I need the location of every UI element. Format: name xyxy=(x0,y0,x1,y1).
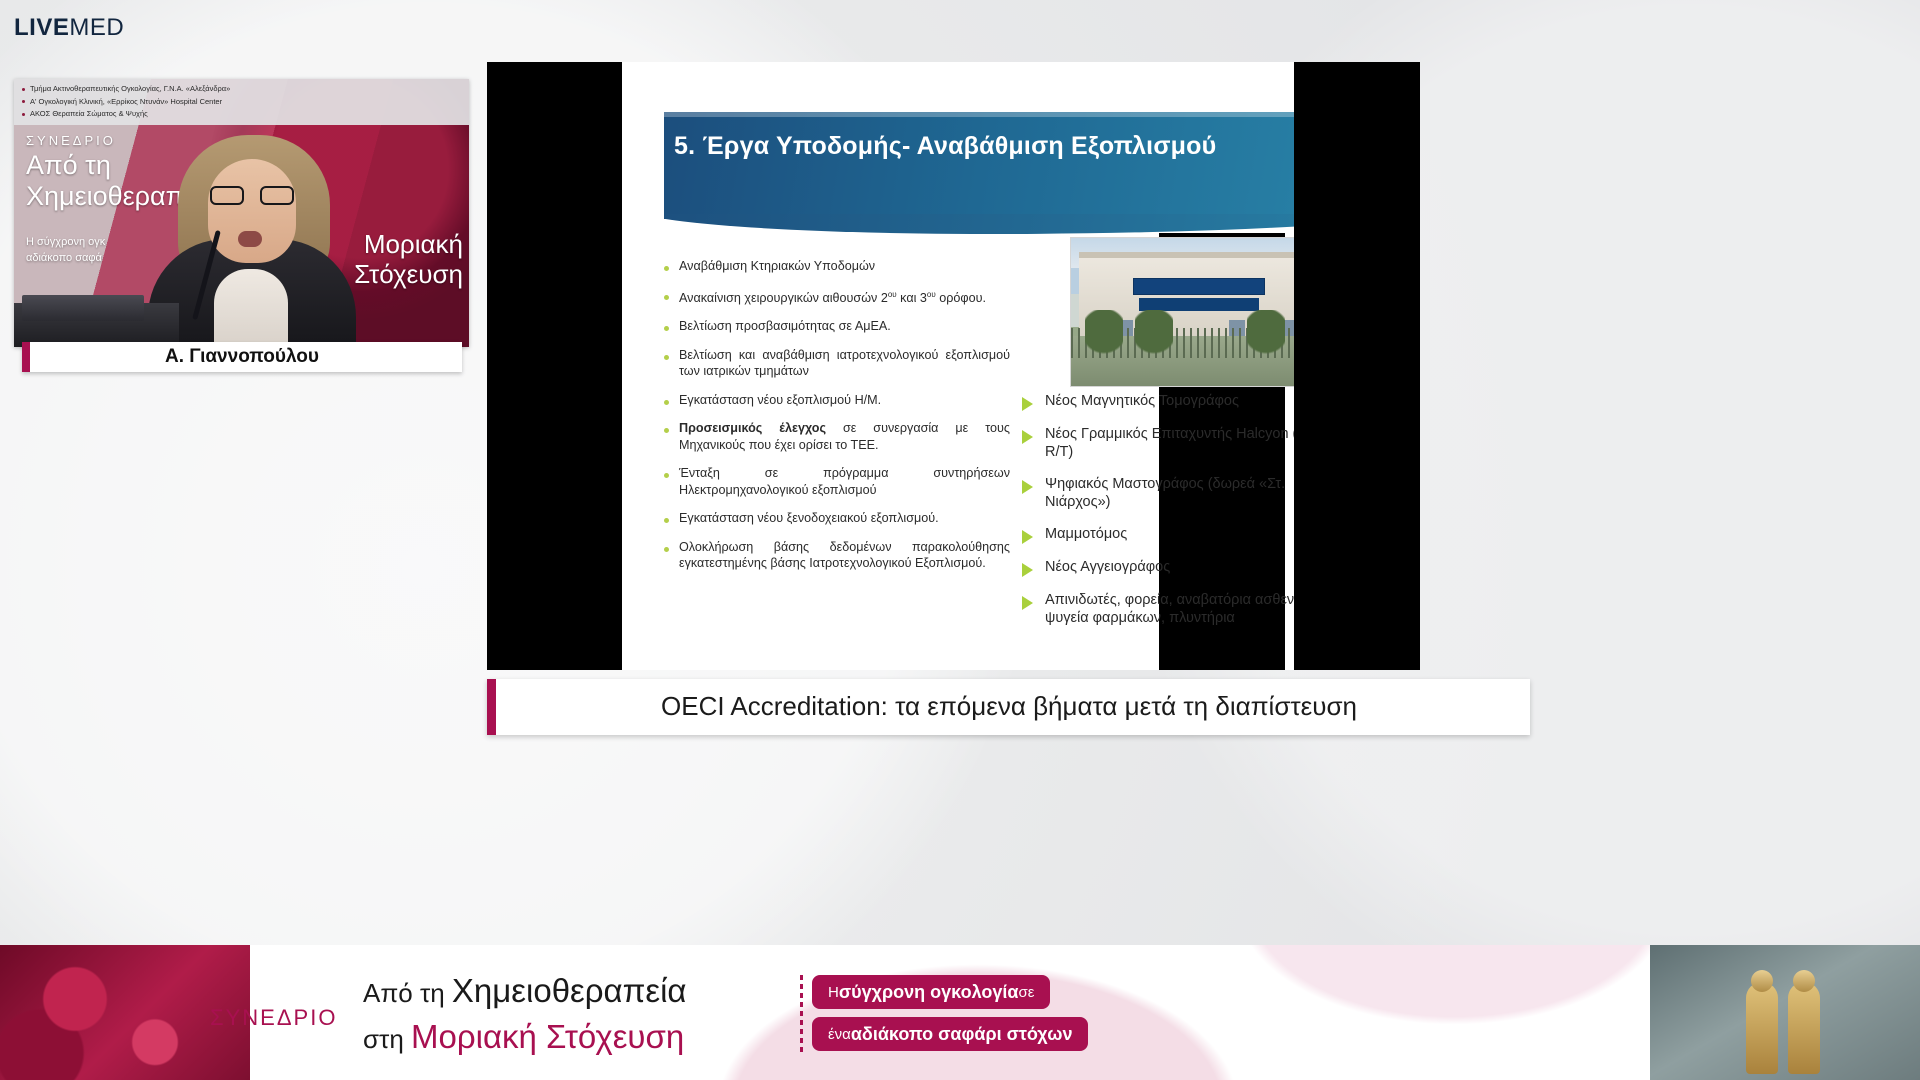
bullet-dot-icon xyxy=(664,355,669,360)
list-item: Βελτίωση και αναβάθμιση ιατροτεχνολογικο… xyxy=(660,347,1010,380)
footer-kicker: ΣΥΝΕΔΡΙΟ xyxy=(210,1005,337,1031)
bullet-text: Αναβάθμιση Κτηριακών Υποδομών xyxy=(679,258,1010,275)
triangle-bullet-icon xyxy=(1022,397,1033,411)
affiliation-overlay: Τμήμα Ακτινοθεραπευτικής Ογκολογίας, Γ.Ν… xyxy=(14,79,469,125)
bullet-text: Ανακαίνιση χειρουργικών αιθουσών 2ου και… xyxy=(679,287,1010,307)
speaker-shirt xyxy=(214,269,288,347)
logo-med: MED xyxy=(69,14,124,42)
footer-divider xyxy=(800,975,803,1053)
presentation-slide[interactable]: 5. Έργα Υποδομής- Αναβάθμιση Εξοπλισμού xyxy=(622,62,1294,670)
list-item: Εγκατάσταση νέου εξοπλισμού Η/Μ. xyxy=(660,392,1010,409)
slide-right-bullet-list: Νέος Μαγνητικός Τομογράφος Νέος Γραμμικό… xyxy=(1022,392,1294,641)
hospital-building-photo xyxy=(1070,237,1294,387)
slide-title: 5. Έργα Υποδομής- Αναβάθμιση Εξοπλισμού xyxy=(674,128,1234,164)
bullet-text: Ψηφιακός Μαστογράφος (δωρεά «Στ. Νιάρχος… xyxy=(1045,475,1294,511)
list-item: Ένταξη σε πρόγραμμα συντηρήσεων Ηλεκτρομ… xyxy=(660,465,1010,498)
photo-tree xyxy=(1135,310,1173,362)
bullet-dot-icon xyxy=(664,428,669,433)
triangle-bullet-icon xyxy=(1022,563,1033,577)
glasses-icon xyxy=(210,186,294,205)
photo-tree xyxy=(1085,310,1123,362)
list-item: Απινιδωτές, φορεία, αναβατόρια ασθενών, … xyxy=(1022,591,1294,627)
list-item: Νέος Γραμμικός Επιταχυντής Halcyon (για … xyxy=(1022,425,1294,461)
bullet-text: Νέος Γραμμικός Επιταχυντής Halcyon (για … xyxy=(1045,425,1294,461)
affiliation-line: Α' Ογκολογική Κλινική, «Ερρίκος Ντυνάν» … xyxy=(22,96,461,109)
list-item: Νέος Αγγειογράφος xyxy=(1022,558,1294,577)
speaker-face xyxy=(208,159,296,263)
bullet-text: Βελτίωση και αναβάθμιση ιατροτεχνολογικο… xyxy=(679,347,1010,380)
footer-title-line1: Από τη Χημειοθεραπεία xyxy=(363,969,783,1015)
bullet-text-emphasised: Προσεισμικός έλεγχος σε συνεργασία με το… xyxy=(679,420,1010,453)
logo-live: LIVE xyxy=(14,14,69,42)
triangle-bullet-icon xyxy=(1022,430,1033,444)
bullet-text: Εγκατάσταση νέου ξενοδοχειακού εξοπλισμο… xyxy=(679,510,1010,527)
bullet-text: Νέος Μαγνητικός Τομογράφος xyxy=(1045,392,1294,410)
band-sheen xyxy=(664,112,1294,117)
footer-title: Από τη Χημειοθεραπεία στη Μοριακή Στόχευ… xyxy=(363,969,783,1061)
footer-title-line2: στη Μοριακή Στόχευση xyxy=(363,1015,783,1061)
bullet-dot-icon xyxy=(22,113,25,116)
speaker-mouth xyxy=(238,231,262,247)
bullet-dot-icon xyxy=(664,326,669,331)
livemed-logo: LIVEMED xyxy=(14,14,124,42)
bullet-text: Ένταξη σε πρόγραμμα συντηρήσεων Ηλεκτρομ… xyxy=(679,465,1010,498)
slide-stage[interactable]: 5. Έργα Υποδομής- Αναβάθμιση Εξοπλισμού xyxy=(487,62,1420,670)
session-title-bar: OECI Accreditation: τα επόμενα βήματα με… xyxy=(487,679,1530,735)
footer-right-artwork xyxy=(1650,945,1920,1080)
list-item: Μαμμοτόμος xyxy=(1022,525,1294,544)
bullet-text: Εγκατάσταση νέου εξοπλισμού Η/Μ. xyxy=(679,392,1010,409)
slide-title-curve xyxy=(664,214,1294,236)
bullet-dot-icon xyxy=(664,547,669,552)
affiliation-line: Τμήμα Ακτινοθεραπευτικής Ογκολογίας, Γ.Ν… xyxy=(22,83,461,96)
bullet-dot-icon xyxy=(664,518,669,523)
bullet-dot-icon xyxy=(22,100,25,103)
statue-icon xyxy=(1746,982,1778,1074)
triangle-bullet-icon xyxy=(1022,530,1033,544)
list-item: Ψηφιακός Μαστογράφος (δωρεά «Στ. Νιάρχος… xyxy=(1022,475,1294,511)
triangle-bullet-icon xyxy=(1022,596,1033,610)
speaker-video-panel[interactable]: Τμήμα Ακτινοθεραπευτικής Ογκολογίας, Γ.Ν… xyxy=(14,79,469,347)
bullet-dot-icon xyxy=(664,295,669,300)
list-item: Εγκατάσταση νέου ξενοδοχειακού εξοπλισμο… xyxy=(660,510,1010,527)
bullet-text: Απινιδωτές, φορεία, αναβατόρια ασθενών, … xyxy=(1045,591,1294,627)
bullet-text: Ολοκλήρωση βάσης δεδομένων παρακολούθηση… xyxy=(679,539,1010,572)
affiliation-line: ΑΚΟΣ Θεραπεία Σώματος & Ψυχής xyxy=(22,108,461,121)
session-accent-bar xyxy=(487,679,496,735)
bullet-text: Μαμμοτόμος xyxy=(1045,525,1294,543)
list-item: Ανακαίνιση χειρουργικών αιθουσών 2ου και… xyxy=(660,287,1010,307)
bullet-dot-icon xyxy=(664,266,669,271)
bullet-dot-icon xyxy=(664,400,669,405)
photo-signboard xyxy=(1133,278,1265,295)
list-item: Νέος Μαγνητικός Τομογράφος xyxy=(1022,392,1294,411)
statue-icon xyxy=(1788,982,1820,1074)
bullet-dot-icon xyxy=(22,88,25,91)
conference-footer-banner: ΣΥΝΕΔΡΙΟ Από τη Χημειοθεραπεία στη Μορια… xyxy=(0,945,1920,1080)
nameplate-accent-bar xyxy=(22,342,30,372)
speaker-name: Α. Γιαννοπούλου xyxy=(30,346,462,368)
list-item: Αναβάθμιση Κτηριακών Υποδομών xyxy=(660,258,1010,275)
laptop xyxy=(22,295,144,321)
speaker-nameplate: Α. Γιαννοπούλου xyxy=(22,342,462,372)
list-item: Ολοκλήρωση βάσης δεδομένων παρακολούθηση… xyxy=(660,539,1010,572)
bullet-text: Βελτίωση προσβασιμότητας σε ΑμΕΑ. xyxy=(679,318,1010,335)
slide-left-bullet-list: Αναβάθμιση Κτηριακών Υποδομών Ανακαίνιση… xyxy=(660,258,1010,584)
triangle-bullet-icon xyxy=(1022,480,1033,494)
list-item: Βελτίωση προσβασιμότητας σε ΑμΕΑ. xyxy=(660,318,1010,335)
photo-tree xyxy=(1247,310,1285,362)
footer-badge-2: ένα αδιάκοπο σαφάρι στόχων xyxy=(812,1017,1088,1051)
list-item: Προσεισμικός έλεγχος σε συνεργασία με το… xyxy=(660,420,1010,453)
bullet-dot-icon xyxy=(664,473,669,478)
bullet-text: Νέος Αγγειογράφος xyxy=(1045,558,1294,576)
session-title: OECI Accreditation: τα επόμενα βήματα με… xyxy=(496,691,1530,724)
footer-badge-1: Η σύγχρονη ογκολογία σε xyxy=(812,975,1050,1009)
